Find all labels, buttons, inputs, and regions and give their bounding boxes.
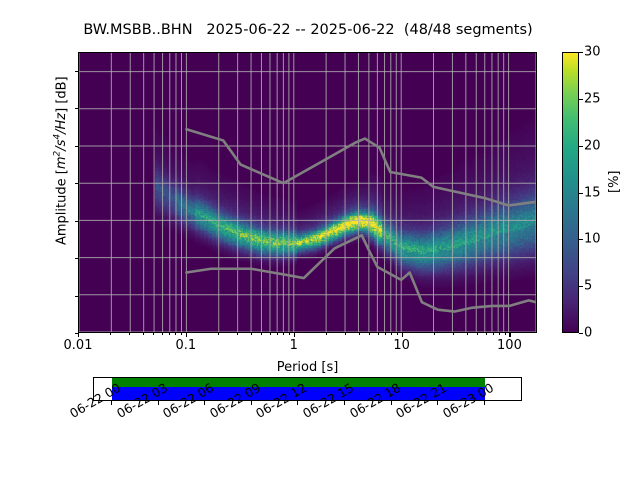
x-tick-mark xyxy=(402,333,403,337)
x-tick-label: 10 xyxy=(393,338,410,353)
coverage-tick-mark xyxy=(344,401,345,405)
y-axis-label-text: Amplitude [ xyxy=(54,169,69,245)
x-tick-mark xyxy=(509,333,510,337)
x-minor-tick-mark xyxy=(283,333,284,335)
coverage-tick-mark xyxy=(297,401,298,405)
coverage-tick-mark xyxy=(158,401,159,405)
colorbar-tick-label: 10 xyxy=(584,232,601,247)
x-minor-tick-mark xyxy=(434,333,435,335)
coverage-tick-mark xyxy=(251,401,252,405)
x-tick-label: 100 xyxy=(497,338,522,353)
x-tick-mark xyxy=(294,333,295,337)
x-tick-label: 0.1 xyxy=(176,338,197,353)
x-minor-tick-mark xyxy=(129,333,130,335)
x-minor-tick-mark xyxy=(110,333,111,335)
x-minor-tick-mark xyxy=(477,333,478,335)
x-minor-tick-mark xyxy=(326,333,327,335)
ppsd-figure: BW.MSBB..BHN 2025-06-22 -- 2025-06-22 (4… xyxy=(0,0,640,480)
coverage-tick-mark xyxy=(437,401,438,405)
x-minor-tick-mark xyxy=(270,333,271,335)
colorbar-tick-label: 0 xyxy=(584,326,592,341)
y-tick-mark xyxy=(75,71,79,72)
x-minor-tick-mark xyxy=(397,333,398,335)
x-minor-tick-mark xyxy=(169,333,170,335)
x-minor-tick-mark xyxy=(175,333,176,335)
ppsd-plot-axes[interactable]: Amplitude [m2/s4/Hz] [dB] xyxy=(78,52,537,333)
x-axis-label: Period [s] xyxy=(78,360,537,375)
y-tick-mark xyxy=(75,108,79,109)
ppsd-plot-area xyxy=(79,53,536,332)
x-minor-tick-mark xyxy=(359,333,360,335)
x-minor-tick-mark xyxy=(499,333,500,335)
y-axis-label: Amplitude [m2/s4/Hz] [dB] xyxy=(53,76,69,245)
y-tick-mark xyxy=(75,258,79,259)
colorbar-tick-mark xyxy=(579,99,583,100)
x-minor-tick-mark xyxy=(486,333,487,335)
peterson-noise-model-lines xyxy=(79,53,536,332)
x-minor-tick-mark xyxy=(467,333,468,335)
colorbar-tick-mark xyxy=(579,52,583,53)
x-tick-mark xyxy=(186,333,187,337)
x-minor-tick-mark xyxy=(369,333,370,335)
page-title: BW.MSBB..BHN 2025-06-22 -- 2025-06-22 (4… xyxy=(78,22,538,38)
x-minor-tick-mark xyxy=(505,333,506,335)
colorbar-tick-label: 20 xyxy=(584,138,601,153)
colorbar-tick-mark xyxy=(579,193,583,194)
colorbar-tick-label: 30 xyxy=(584,45,601,60)
y-tick-mark xyxy=(75,221,79,222)
colorbar-tick-mark xyxy=(579,333,583,334)
x-minor-tick-mark xyxy=(162,333,163,335)
x-minor-tick-mark xyxy=(143,333,144,335)
colorbar[interactable] xyxy=(562,52,579,333)
coverage-tick-mark xyxy=(391,401,392,405)
coverage-tick-mark xyxy=(204,401,205,405)
colorbar-tick-label: 15 xyxy=(584,185,601,200)
x-minor-tick-mark xyxy=(261,333,262,335)
colorbar-tick-label: 25 xyxy=(584,91,601,106)
x-tick-mark xyxy=(78,333,79,337)
x-minor-tick-mark xyxy=(218,333,219,335)
x-tick-label: 0.01 xyxy=(64,338,93,353)
colorbar-tick-mark xyxy=(579,239,583,240)
colorbar-tick-mark xyxy=(579,286,583,287)
x-minor-tick-mark xyxy=(391,333,392,335)
x-minor-tick-mark xyxy=(237,333,238,335)
colorbar-tick-label: 5 xyxy=(584,279,592,294)
colorbar-tick-mark xyxy=(579,146,583,147)
colorbar-label: [%] xyxy=(607,171,622,194)
y-tick-mark xyxy=(75,296,79,297)
x-minor-tick-mark xyxy=(345,333,346,335)
x-tick-label: 1 xyxy=(290,338,298,353)
x-minor-tick-mark xyxy=(385,333,386,335)
y-tick-mark xyxy=(75,183,79,184)
y-tick-mark xyxy=(75,146,79,147)
x-minor-tick-mark xyxy=(493,333,494,335)
x-minor-tick-mark xyxy=(277,333,278,335)
x-minor-tick-mark xyxy=(251,333,252,335)
x-minor-tick-mark xyxy=(153,333,154,335)
coverage-tick-mark xyxy=(484,401,485,405)
x-minor-tick-mark xyxy=(453,333,454,335)
x-minor-tick-mark xyxy=(289,333,290,335)
coverage-tick-mark xyxy=(111,401,112,405)
x-minor-tick-mark xyxy=(378,333,379,335)
x-minor-tick-mark xyxy=(181,333,182,335)
